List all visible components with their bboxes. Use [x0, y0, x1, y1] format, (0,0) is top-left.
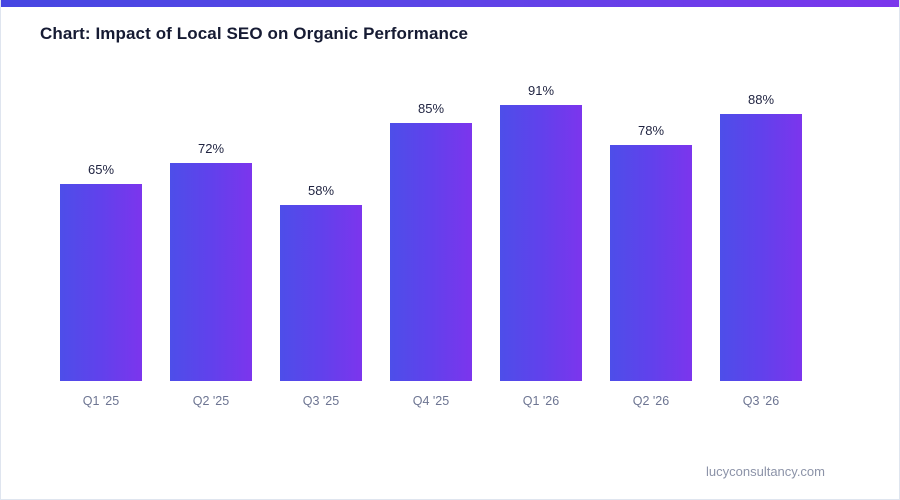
bar-value-label: 58%: [280, 183, 362, 198]
bar-chart-plot-area: 65%Q1 '2572%Q2 '2558%Q3 '2585%Q4 '2591%Q…: [1, 0, 900, 420]
bar-group: 78%Q2 '26: [610, 0, 692, 420]
bar-value-label: 78%: [610, 123, 692, 138]
chart-bar[interactable]: [390, 123, 472, 381]
footer-website-url: lucyconsultancy.com: [706, 464, 825, 479]
x-axis-tick-label: Q3 '26: [720, 394, 802, 408]
bar-group: 72%Q2 '25: [170, 0, 252, 420]
bar-value-label: 88%: [720, 92, 802, 107]
bar-value-label: 72%: [170, 141, 252, 156]
x-axis-tick-label: Q2 '25: [170, 394, 252, 408]
chart-card: Chart: Impact of Local SEO on Organic Pe…: [0, 0, 900, 500]
chart-bar[interactable]: [170, 163, 252, 381]
bar-value-label: 85%: [390, 101, 472, 116]
bar-value-label: 91%: [500, 83, 582, 98]
chart-bar[interactable]: [500, 105, 582, 381]
x-axis-tick-label: Q1 '26: [500, 394, 582, 408]
chart-bar[interactable]: [720, 114, 802, 381]
bar-value-label: 65%: [60, 162, 142, 177]
x-axis-tick-label: Q1 '25: [60, 394, 142, 408]
chart-bar[interactable]: [280, 205, 362, 381]
x-axis-tick-label: Q3 '25: [280, 394, 362, 408]
bar-group: 88%Q3 '26: [720, 0, 802, 420]
chart-bar[interactable]: [60, 184, 142, 381]
bar-group: 65%Q1 '25: [60, 0, 142, 420]
bar-group: 58%Q3 '25: [280, 0, 362, 420]
bar-group: 85%Q4 '25: [390, 0, 472, 420]
bar-group: 91%Q1 '26: [500, 0, 582, 420]
x-axis-tick-label: Q4 '25: [390, 394, 472, 408]
chart-bar[interactable]: [610, 145, 692, 381]
screenshot-root: Chart: Impact of Local SEO on Organic Pe…: [0, 0, 900, 500]
x-axis-tick-label: Q2 '26: [610, 394, 692, 408]
